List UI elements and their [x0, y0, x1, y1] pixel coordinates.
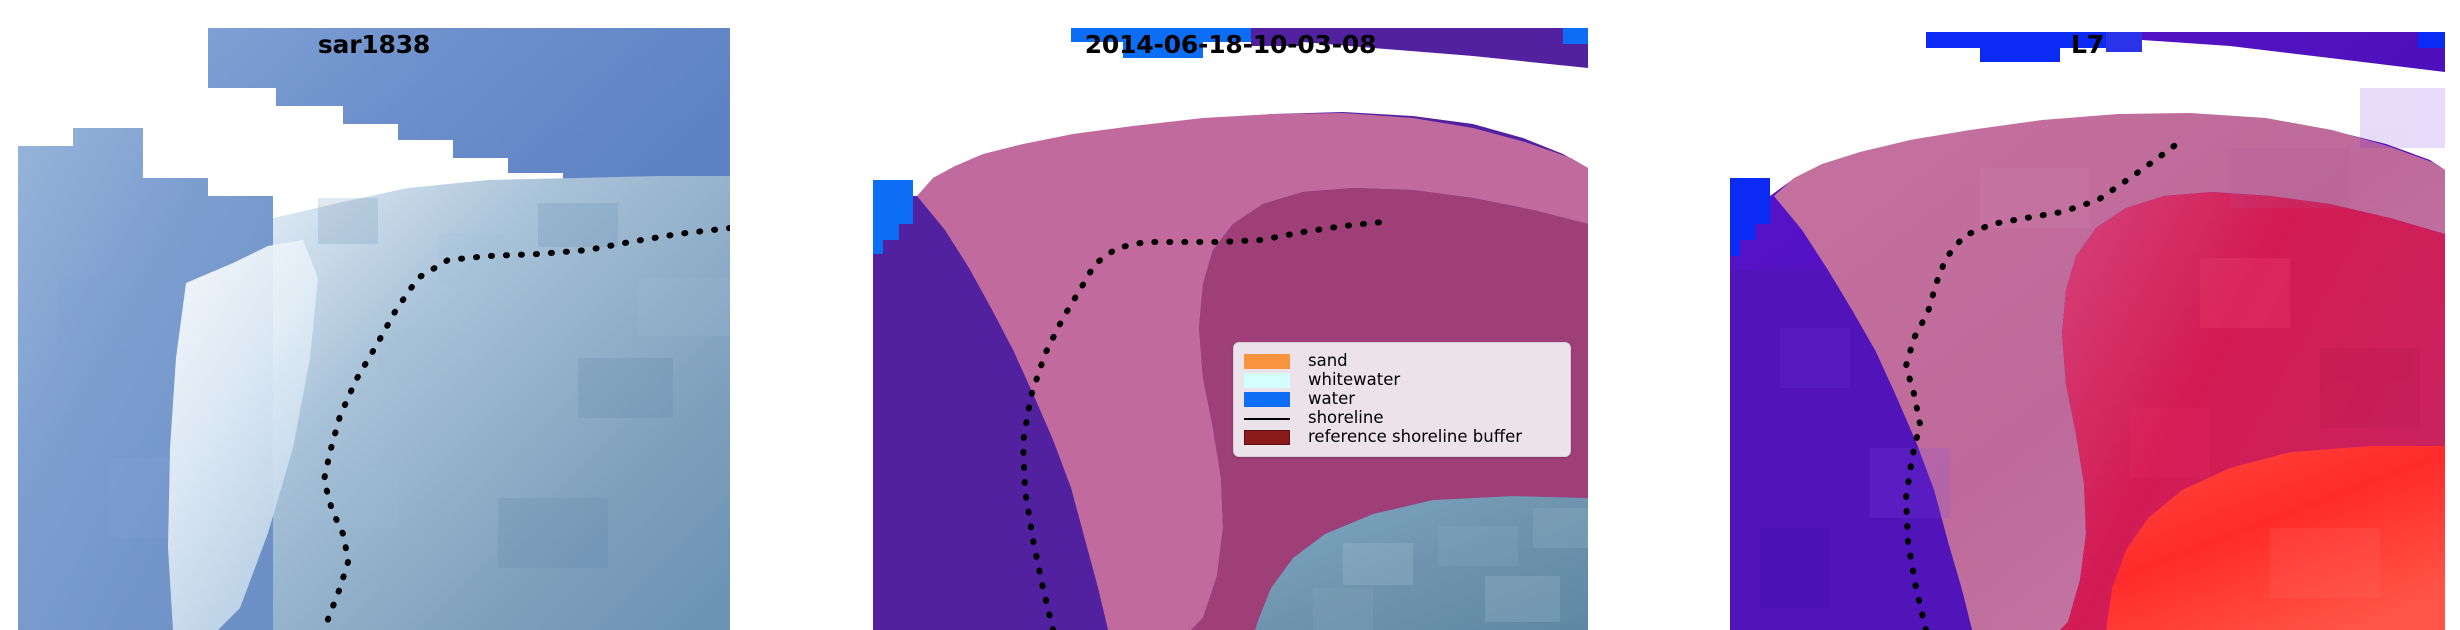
legend-item-sand[interactable]: sand [1244, 352, 1558, 371]
classification-raster [873, 28, 1588, 630]
legend-label-reference-shoreline-buffer: reference shoreline buffer [1308, 429, 1522, 446]
panel-l7[interactable]: L7 [1730, 28, 2445, 630]
panel-sar1838[interactable]: sar1838 [18, 28, 730, 630]
legend-label-shoreline: shoreline [1308, 410, 1384, 427]
whitewater-color-swatch [1244, 373, 1290, 388]
legend-label-sand: sand [1308, 353, 1348, 370]
reference-shoreline-buffer-color-swatch [1244, 430, 1290, 445]
legend-label-water: water [1308, 391, 1355, 408]
legend-item-reference-shoreline-buffer[interactable]: reference shoreline buffer [1244, 428, 1558, 447]
shoreline-line-sample [1244, 411, 1290, 426]
legend-item-whitewater[interactable]: whitewater [1244, 371, 1558, 390]
legend-label-whitewater: whitewater [1308, 372, 1400, 389]
figure-canvas: sar1838 [0, 0, 2460, 630]
sand-color-swatch [1244, 354, 1290, 369]
sar1838-raster [18, 28, 730, 630]
water-color-swatch [1244, 392, 1290, 407]
panel-title-2: 2014-06-18-10-03-08 [873, 30, 1588, 59]
panel-title-3: L7 [1730, 30, 2445, 59]
legend-item-water[interactable]: water [1244, 390, 1558, 409]
legend-item-shoreline[interactable]: shoreline [1244, 409, 1558, 428]
l7-raster [1730, 28, 2445, 630]
panel-title-1: sar1838 [18, 30, 730, 59]
panel-classification[interactable]: 2014-06-18-10-03-08 [873, 28, 1588, 630]
legend[interactable]: sand whitewater water shoreline referenc… [1233, 342, 1571, 457]
